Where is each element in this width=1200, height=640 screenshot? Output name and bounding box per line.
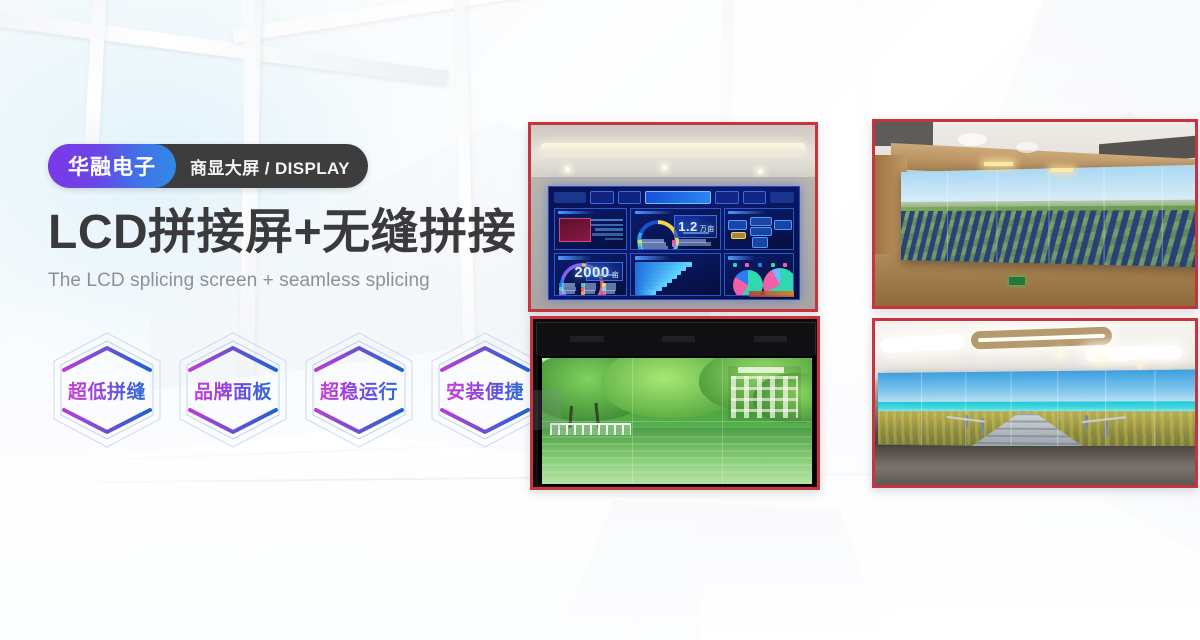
lcd-splicing-screen-banner: 华融电子 商显大屏 / DISPLAY LCD拼接屏+无缝拼接 The LCD … [0,0,1200,640]
lake-scene-screen [542,358,812,483]
dashboard-card-pies [724,253,794,295]
feature-badge-2[interactable]: 超稳运行 [300,330,418,450]
calendar-overlay [728,366,801,421]
ceiling-light-round-1 [958,133,987,146]
cove-light [540,143,807,153]
dashboard-card-donut-stat: 1.2万亩 [630,208,721,250]
downlight-1 [984,162,1013,166]
dashboard-screen: 1.2万亩 [548,186,800,300]
lakeside-railing [550,423,631,435]
ceiling-panel-left [875,122,933,146]
photo-wood-wall-solar-farm [872,119,1198,309]
page-subtitle: The LCD splicing screen + seamless splic… [48,270,518,292]
dashboard-card-bar-list [630,253,721,295]
dashboard-card-flow-diagram [724,208,794,250]
feature-badge-label: 品牌面板 [194,377,272,404]
video-wall-screen [878,370,1195,450]
exit-sign-icon [1009,277,1025,285]
screen-seams [901,164,1195,267]
headline-block: 华融电子 商显大屏 / DISPLAY LCD拼接屏+无缝拼接 The LCD … [48,144,518,292]
page-title: LCD拼接屏+无缝拼接 [48,208,518,259]
upper-dark-panel-row [536,322,816,356]
photo-willow-lake-video-wall [530,316,820,490]
video-wall-frame [536,354,817,487]
feature-badge-3[interactable]: 安装便捷 [426,330,544,450]
dashboard-topbar [554,190,794,205]
photo-control-room-dashboard: 1.2万亩 [528,122,818,312]
photo-lobby-beach-boardwalk [872,318,1198,488]
water-reflection [542,436,812,474]
feature-badge-label: 超低拼缝 [68,377,146,404]
feature-badge-label: 超稳运行 [320,377,398,404]
brand-name-chip: 华融电子 [48,144,176,188]
calendar-header [738,367,783,373]
brand-category-label: 商显大屏 / DISPLAY [176,144,368,188]
feature-badge-1[interactable]: 品牌面板 [174,330,292,450]
video-wall-screen [901,164,1195,267]
dashboard-card-area-stat: 2000亩 [554,253,627,295]
downlight-2 [1051,168,1073,172]
sky [878,370,1195,404]
calendar-grid [731,376,798,418]
feature-badge-list: 超低拼缝 品牌面板 [48,330,544,450]
dashboard-grid: 1.2万亩 [554,208,794,296]
dashboard-card-intro [554,208,627,250]
stat-secondary-number: 2000亩 [574,264,619,281]
brand-badge: 华融电子 商显大屏 / DISPLAY [48,144,368,188]
polished-floor [875,446,1195,485]
feature-badge-label: 安装便捷 [446,377,524,404]
feature-badge-0[interactable]: 超低拼缝 [48,330,166,450]
